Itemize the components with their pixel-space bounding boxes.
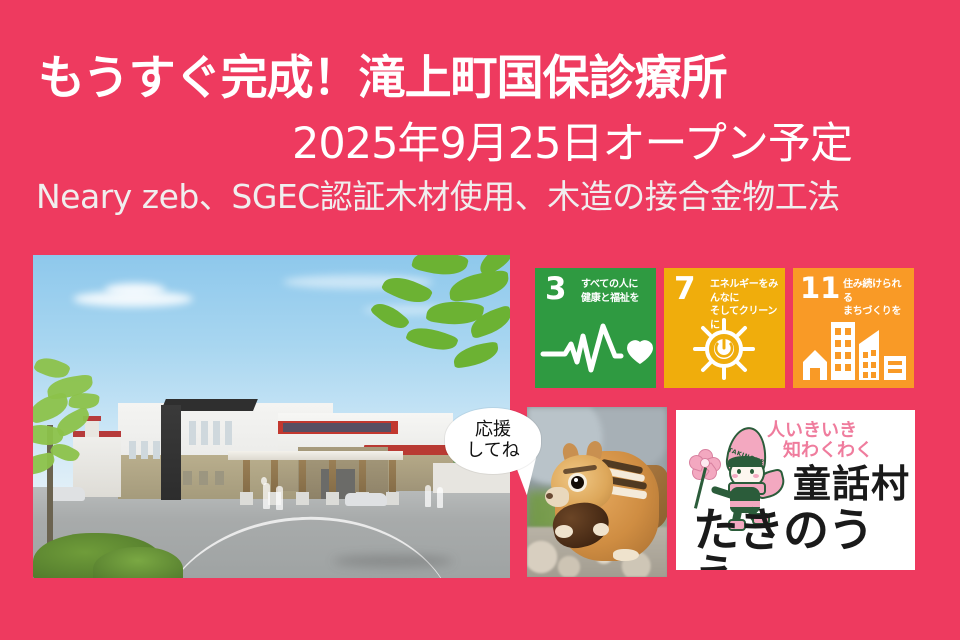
chipmunk-foot: [613, 549, 639, 561]
page-title: もうすぐ完成！滝上町国保診療所: [38, 55, 727, 102]
sdg-goal-line2: 健康と福祉を: [581, 293, 639, 304]
city-buildings-icon: [793, 318, 914, 380]
mascot-eye: [737, 469, 741, 474]
mascot-hair: [728, 456, 762, 467]
chipmunk-nose: [546, 493, 553, 499]
sdg-goal-text: すべての人に 健康と福祉を: [581, 278, 651, 305]
sun-power-icon: [664, 318, 785, 380]
window: [189, 421, 196, 445]
entrance-canopy: [228, 451, 403, 460]
window: [201, 421, 208, 445]
window: [225, 421, 232, 445]
speech-bubble-line1: 応援: [475, 419, 511, 440]
window: [215, 471, 224, 485]
post-base: [296, 492, 309, 505]
person-figure: [276, 486, 283, 510]
person-figure: [261, 477, 267, 485]
sdg-goal-line1: すべての人に: [581, 279, 638, 290]
speech-bubble-line2: してね: [466, 440, 519, 461]
person-figure: [425, 485, 431, 507]
tree-leaf: [448, 270, 510, 302]
chipmunk-paw: [593, 523, 609, 536]
window: [199, 471, 208, 485]
tree-leaf: [405, 321, 459, 357]
chipmunk-paw: [555, 525, 573, 538]
opening-date-line: 2025年9月25日オープン予定: [292, 123, 852, 166]
logo-tagline: 人いきいき 知わくわく: [767, 421, 915, 461]
ground-shadow: [333, 555, 453, 567]
post-base: [240, 492, 253, 505]
speech-bubble: 応援 してね: [445, 408, 541, 474]
sdg-badge-7: 7 エネルギーをみんなに そしてクリーンに: [664, 268, 785, 388]
window: [183, 471, 192, 485]
tree-leaf: [381, 270, 434, 311]
mascot-eye: [750, 469, 754, 474]
post-base: [326, 492, 339, 505]
tree-leaf: [452, 341, 501, 369]
sdg-number: 11: [800, 274, 840, 303]
sdg-number: 3: [545, 274, 567, 305]
window-strip: [283, 423, 391, 432]
takinoue-town-logo: TAKINOUE 人いきいき 知わくわく 童話村: [676, 410, 915, 570]
chipmunk-eye-highlight: [574, 478, 578, 482]
features-line: Neary zeb、SGEC認証木材使用、木造の接合金物工法: [36, 180, 840, 213]
building-rendering-photo: [33, 255, 510, 578]
tree-leaf: [370, 297, 411, 335]
logo-tagline-line2: 知わくわく: [783, 441, 915, 461]
mascot-cheek: [732, 474, 738, 478]
tree-leaf: [411, 255, 469, 281]
sdg-goal-line2: まちづくりを: [843, 306, 901, 317]
mascot-cheek: [753, 474, 759, 478]
person-figure: [437, 487, 443, 508]
chipmunk-photo: [527, 407, 667, 577]
tree-leaf: [68, 391, 100, 410]
sdg-goal-line1: エネルギーをみんなに: [710, 279, 778, 304]
sdg-badge-11: 11 住み続けられる まちづくりを: [793, 268, 914, 388]
logo-takinoue-text: たきのうえ: [693, 507, 913, 570]
poster-canvas: もうすぐ完成！滝上町国保診療所 2025年9月25日オープン予定 Neary z…: [0, 0, 960, 640]
logo-inner-panel: TAKINOUE 人いきいき 知わくわく 童話村: [681, 415, 910, 565]
cloud-shape: [105, 283, 165, 296]
dark-column: [161, 405, 181, 500]
left-tree: [33, 305, 155, 505]
top-tree-branch: [263, 255, 510, 385]
parked-car: [345, 493, 387, 506]
heartbeat-icon: [535, 318, 656, 380]
post-base: [386, 492, 399, 505]
speech-bubble-text: 応援 してね: [466, 420, 519, 461]
sdg-goal-text: 住み続けられる まちづくりを: [843, 278, 909, 319]
window: [213, 421, 220, 445]
logo-tagline-line1: 人いきいき: [767, 420, 857, 441]
logo-douwamura-text: 童話村: [793, 465, 915, 503]
sdg-badge-3: 3 すべての人に 健康と福祉を: [535, 268, 656, 388]
sdg-number: 7: [674, 274, 696, 305]
person-figure: [263, 483, 270, 509]
sdg-goal-line1: 住み続けられる: [843, 279, 901, 304]
